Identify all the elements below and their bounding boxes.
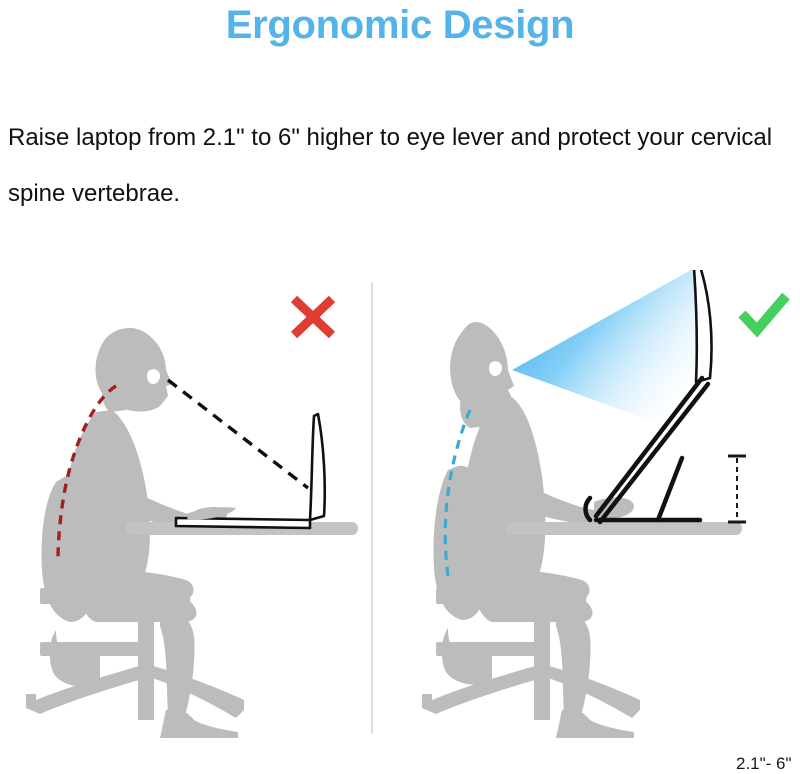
page-title: Ergonomic Design	[0, 0, 800, 48]
desk-surface	[506, 522, 742, 535]
illustration-area: .fig { fill: #bcbcbc; } .deskc{ fill: #c…	[0, 270, 800, 738]
figure-head	[450, 322, 514, 417]
check-mark-icon	[737, 290, 791, 340]
height-range-label: 2.1"- 6"	[736, 754, 792, 774]
panel-correct-posture: .fig2 { fill: #bcbcbc; } .desk2 { fill: …	[400, 270, 800, 738]
header: Ergonomic Design Raise laptop from 2.1" …	[0, 0, 800, 48]
correct-posture-illustration: .fig2 { fill: #bcbcbc; } .desk2 { fill: …	[400, 270, 800, 738]
infographic-page: Ergonomic Design Raise laptop from 2.1" …	[0, 0, 800, 738]
dimension-line	[728, 456, 746, 522]
vision-cone	[512, 270, 698, 438]
panel-incorrect-posture: .fig { fill: #bcbcbc; } .deskc{ fill: #c…	[0, 270, 372, 738]
x-mark-icon	[286, 292, 340, 342]
description-text: Raise laptop from 2.1" to 6" higher to e…	[8, 110, 794, 222]
sight-line	[168, 380, 308, 488]
